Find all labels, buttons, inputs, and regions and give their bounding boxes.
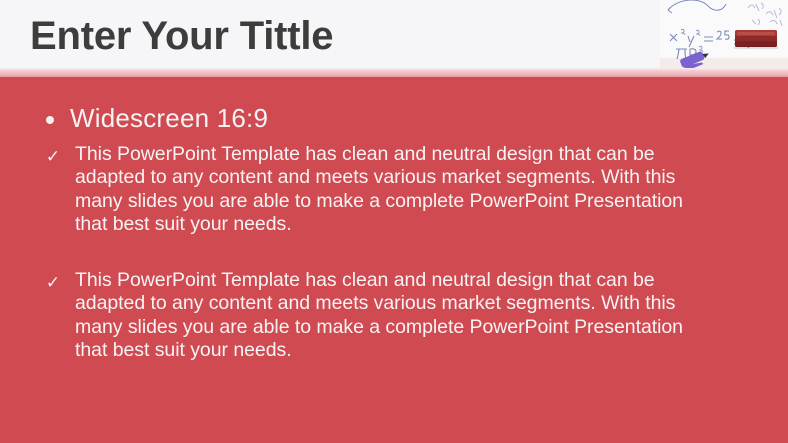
presentation-slide: Enter Your Tittle xyxy=(0,0,788,443)
red-eraser-icon xyxy=(734,30,778,49)
header-divider xyxy=(0,68,788,77)
dot-bullet-icon xyxy=(46,116,54,124)
whiteboard-photo-art xyxy=(660,0,788,68)
list-item-label: This PowerPoint Template has clean and n… xyxy=(75,143,710,236)
bullet-item-widescreen[interactable]: Widescreen 16:9 xyxy=(46,102,268,134)
widescreen-heading-label: Widescreen 16:9 xyxy=(70,102,268,134)
check-bullet-icon: ✓ xyxy=(45,145,61,168)
check-bullet-icon: ✓ xyxy=(45,271,61,294)
list-item-label: This PowerPoint Template has clean and n… xyxy=(75,269,710,362)
list-item[interactable]: ✓ This PowerPoint Template has clean and… xyxy=(45,143,710,236)
slide-body: Widescreen 16:9 ✓ This PowerPoint Templa… xyxy=(0,77,788,443)
list-item[interactable]: ✓ This PowerPoint Template has clean and… xyxy=(45,269,710,362)
page-title[interactable]: Enter Your Tittle xyxy=(30,13,333,59)
whiteboard-photo xyxy=(660,0,788,68)
